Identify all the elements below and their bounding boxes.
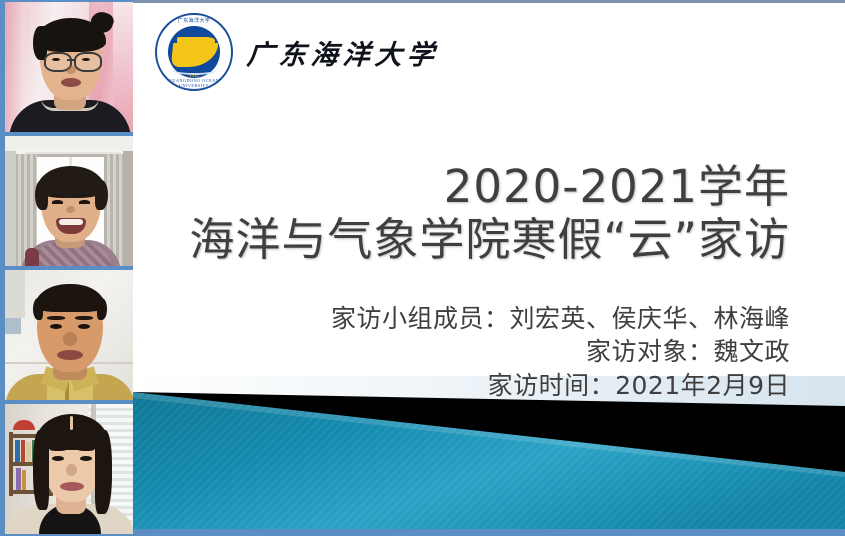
slide-bottom-accent-strip [133,529,845,536]
slide-top-border [133,0,845,3]
logo-arc-top-text: 广东海洋大学 [155,17,233,24]
participant-tile-2[interactable] [0,134,133,268]
subtitle-line-date: 家访时间：2021年2月9日 [331,369,790,402]
participant-tile-1[interactable] [0,0,133,134]
subtitle-line-members: 家访小组成员：刘宏英、侯庆华、林海峰 [331,302,790,335]
shared-slide: 广东海洋大学 GUANGDONG OCEAN UNIVERSITY 1935 广… [133,0,845,536]
slide-title: 2020-2021学年 海洋与气象学院寒假“云”家访 [189,160,790,266]
university-name-text: 广东海洋大学 [246,33,441,72]
participant-tile-4[interactable] [0,402,133,536]
logo-founding-year: 1935 [155,73,233,78]
university-logo-icon: 广东海洋大学 GUANGDONG OCEAN UNIVERSITY 1935 [155,13,233,91]
title-line-1: 2020-2021学年 [189,160,790,213]
slide-header: 广东海洋大学 GUANGDONG OCEAN UNIVERSITY 1935 广… [155,13,439,91]
subtitle-line-subject: 家访对象：魏文政 [331,335,790,368]
title-line-2: 海洋与气象学院寒假“云”家访 [189,213,790,266]
participant-filmstrip [0,0,133,536]
video-conference-screen: 广东海洋大学 GUANGDONG OCEAN UNIVERSITY 1935 广… [0,0,845,536]
slide-subtitle: 家访小组成员：刘宏英、侯庆华、林海峰 家访对象：魏文政 家访时间：2021年2月… [331,302,790,402]
filmstrip-left-edge [0,0,5,536]
participant-tile-3[interactable] [0,268,133,402]
logo-arc-bottom-text: GUANGDONG OCEAN UNIVERSITY [155,78,233,88]
